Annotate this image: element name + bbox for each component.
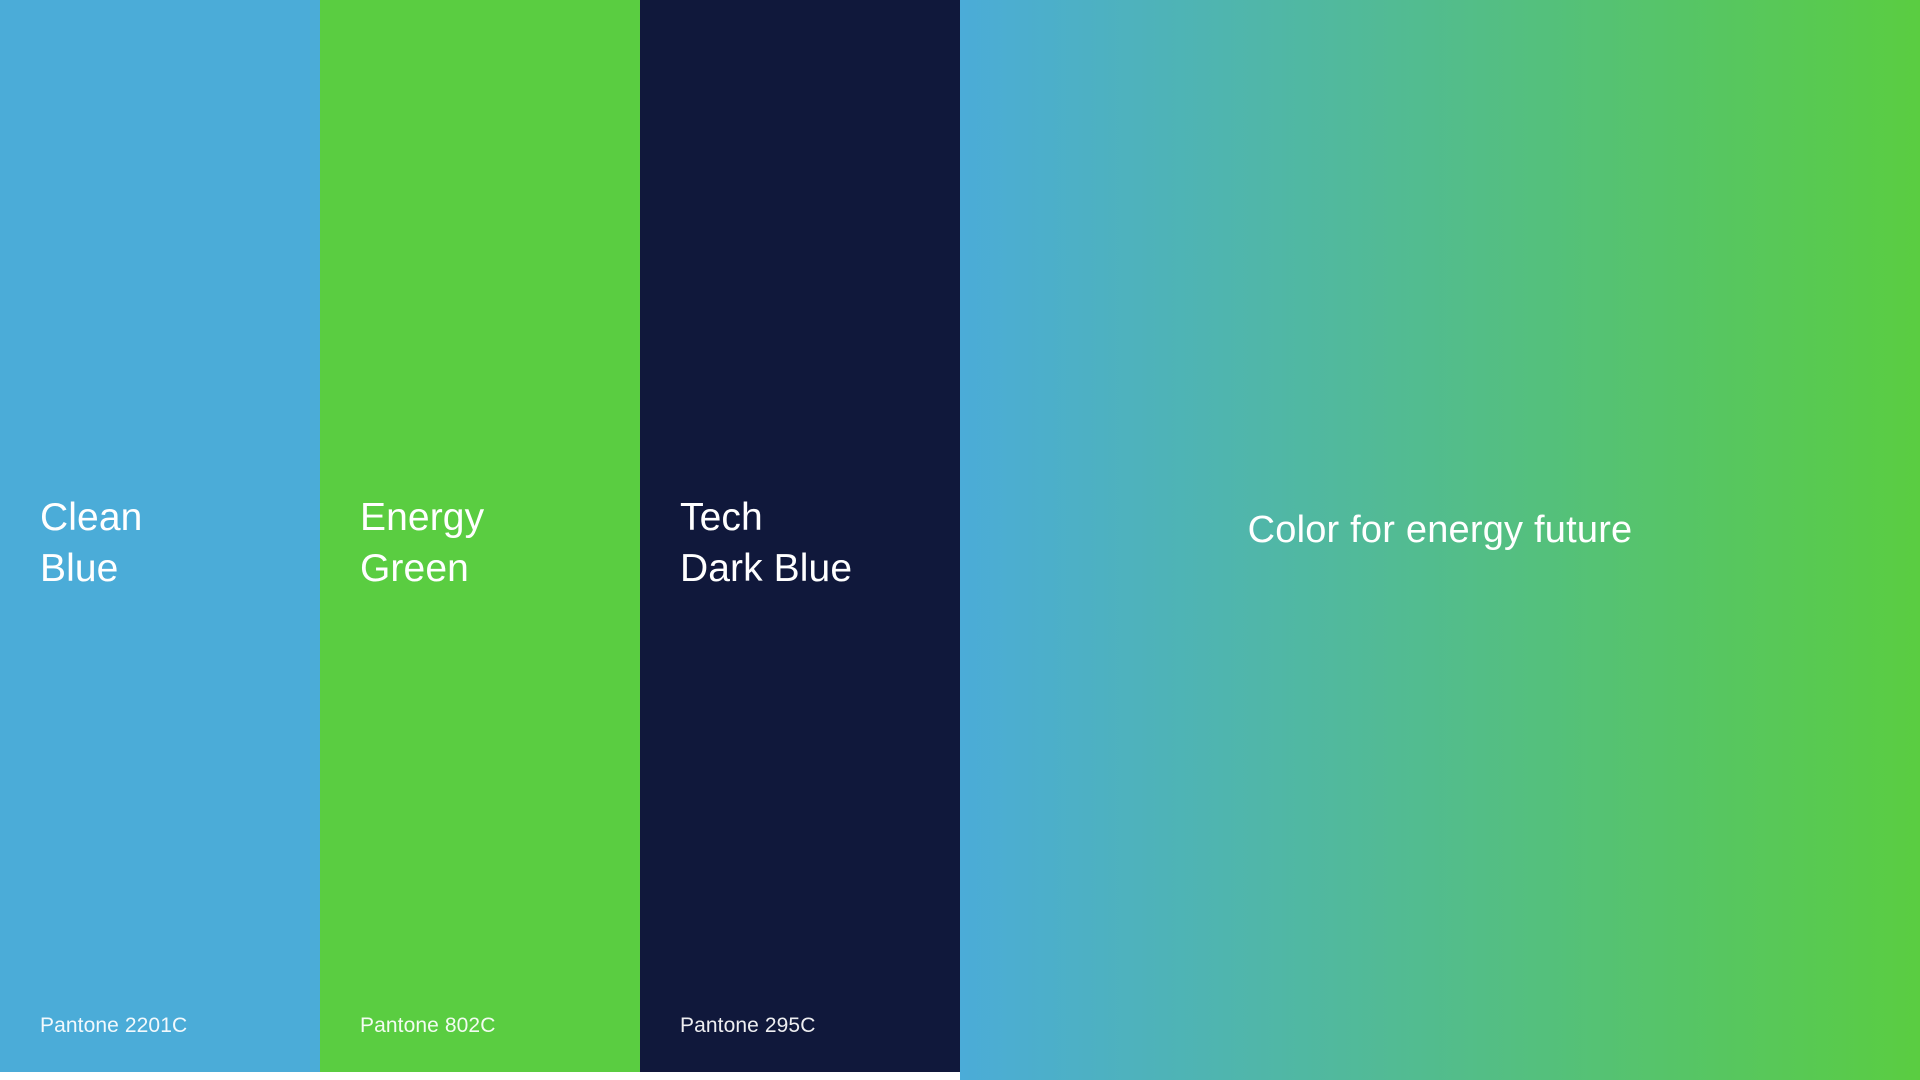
swatch-name-label: Energy Green — [360, 492, 484, 594]
swatch-name-label: Tech Dark Blue — [680, 492, 852, 594]
gradient-showcase-panel: Color for energy future — [960, 0, 1920, 1080]
swatch-name-label: Clean Blue — [40, 492, 142, 594]
color-swatch-clean-blue[interactable]: Clean Blue Pantone 2201C — [0, 0, 320, 1072]
gradient-tagline: Color for energy future — [960, 505, 1920, 555]
swatch-pantone-code: Pantone 295C — [680, 1012, 815, 1039]
color-swatch-energy-green[interactable]: Energy Green Pantone 802C — [320, 0, 640, 1072]
swatch-pantone-code: Pantone 2201C — [40, 1012, 187, 1039]
color-palette-board: Clean Blue Pantone 2201C Energy Green Pa… — [0, 0, 1920, 1080]
color-swatch-tech-dark-blue[interactable]: Tech Dark Blue Pantone 295C — [640, 0, 960, 1072]
swatch-pantone-code: Pantone 802C — [360, 1012, 495, 1039]
